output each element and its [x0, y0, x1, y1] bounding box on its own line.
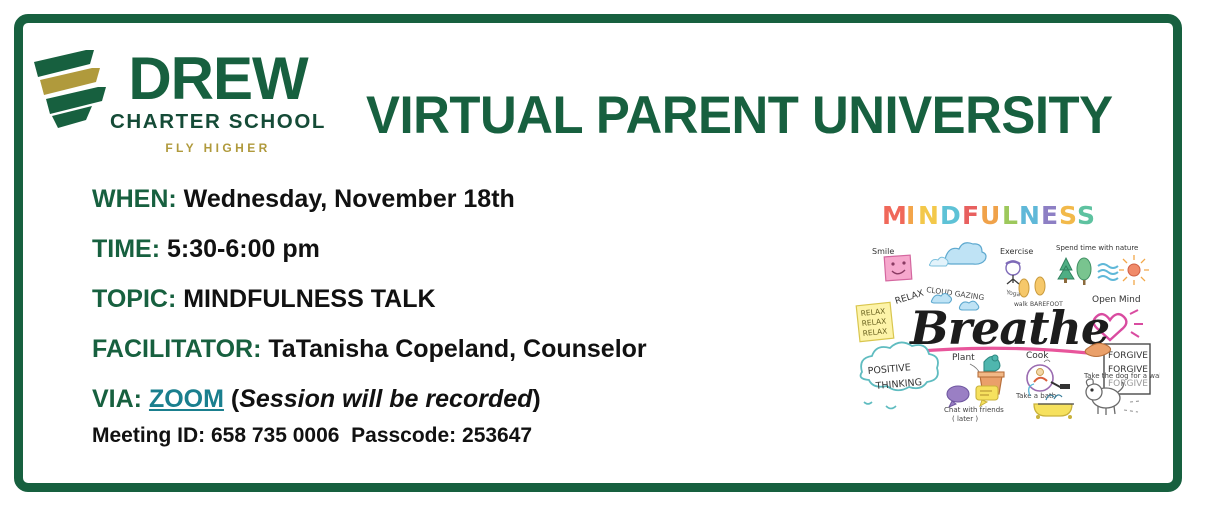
drew-logo-wordmark: DREW CHARTER SCHOOL FLY HIGHER	[102, 50, 334, 155]
svg-text:I: I	[906, 201, 918, 230]
page-title: VIRTUAL PARENT UNIVERSITY	[366, 88, 1113, 144]
via-note: (Session will be recorded)	[231, 385, 541, 413]
logo-charter-school-text: CHARTER SCHOOL	[102, 110, 334, 134]
svg-text:Spend time with nature: Spend time with nature	[1056, 244, 1138, 252]
flyer: DREW CHARTER SCHOOL FLY HIGHER VIRTUAL P…	[0, 0, 1210, 526]
svg-text:E: E	[1041, 201, 1060, 230]
svg-text:Smile: Smile	[872, 247, 894, 256]
svg-text:N: N	[1019, 201, 1042, 230]
detail-row-topic: TOPIC: MINDFULNESS TALK	[92, 286, 832, 312]
svg-text:S: S	[1077, 201, 1097, 230]
svg-text:Take a bath: Take a bath	[1015, 392, 1056, 400]
mindfulness-illustration: M I N D F U L N E S S Smile CLOUD GAZING	[848, 196, 1160, 422]
detail-value-facilitator: TaTanisha Copeland, Counselor	[268, 335, 646, 363]
detail-label-when: WHEN:	[92, 185, 177, 213]
flyer-header: DREW CHARTER SCHOOL FLY HIGHER VIRTUAL P…	[18, 26, 1148, 166]
meeting-credentials: Meeting ID: 658 735 0006 Passcode: 25364…	[92, 424, 832, 448]
detail-row-facilitator: FACILITATOR: TaTanisha Copeland, Counsel…	[92, 336, 832, 362]
detail-row-time: TIME: 5:30-6:00 pm	[92, 236, 832, 262]
svg-text:Exercise: Exercise	[1000, 247, 1033, 256]
detail-label-facilitator: FACILITATOR:	[92, 335, 261, 363]
svg-text:( later ): ( later )	[952, 415, 978, 422]
detail-label-time: TIME:	[92, 235, 160, 263]
event-details: WHEN: Wednesday, November 18th TIME: 5:3…	[92, 186, 832, 448]
zoom-link[interactable]: ZOOM	[149, 385, 224, 413]
detail-row-when: WHEN: Wednesday, November 18th	[92, 186, 832, 212]
svg-text:Cook: Cook	[1026, 351, 1049, 361]
detail-value-time: 5:30-6:00 pm	[167, 235, 320, 263]
svg-text:FORGIVE: FORGIVE	[1108, 379, 1148, 389]
drew-logo-mark-icon	[30, 48, 112, 134]
svg-text:Chat with friends: Chat with friends	[944, 406, 1004, 414]
svg-text:F: F	[962, 201, 981, 230]
detail-label-topic: TOPIC:	[92, 285, 176, 313]
via-note-open-paren: (	[231, 385, 239, 413]
detail-value-when: Wednesday, November 18th	[184, 185, 515, 213]
via-note-italic-text: Session will be recorded	[239, 385, 532, 413]
svg-text:U: U	[980, 201, 1003, 230]
svg-text:N: N	[918, 201, 941, 230]
detail-label-via: VIA:	[92, 385, 142, 413]
via-note-close-paren: )	[532, 385, 540, 413]
svg-text:L: L	[1002, 201, 1020, 230]
svg-text:FORGIVE: FORGIVE	[1108, 351, 1148, 361]
logo-tagline-text: FLY HIGHER	[102, 141, 334, 155]
logo-drew-text: DREW	[102, 50, 334, 108]
svg-text:Take the dog for a walk: Take the dog for a walk	[1083, 372, 1160, 380]
detail-value-topic: MINDFULNESS TALK	[183, 285, 435, 313]
svg-text:Plant: Plant	[952, 353, 975, 363]
detail-row-via: VIA: ZOOM (Session will be recorded)	[92, 386, 832, 412]
svg-text:D: D	[940, 201, 963, 230]
svg-text:Yoga: Yoga	[1005, 289, 1021, 299]
